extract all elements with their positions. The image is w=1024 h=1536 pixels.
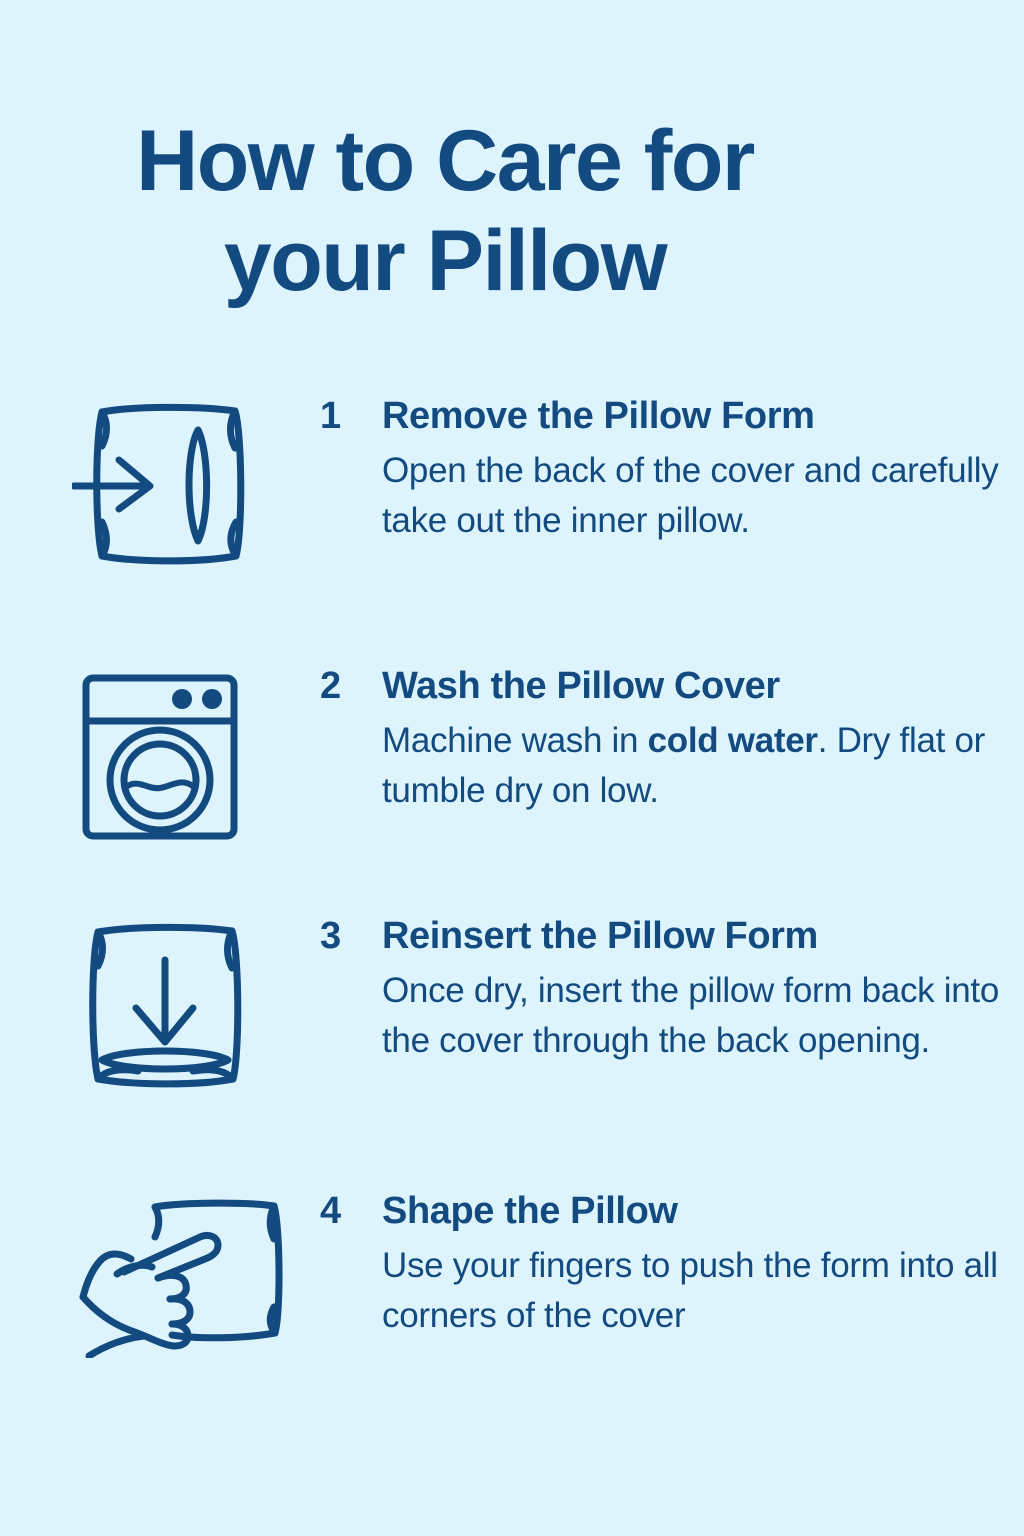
step-number: 3 [320, 912, 382, 960]
step-body-before: Once dry, insert the pillow form back in… [382, 971, 999, 1060]
step-number: 2 [320, 662, 382, 710]
page-title: How to Care for your Pillow [0, 118, 890, 304]
step-body: Use your fingers to push the form into a… [382, 1241, 1024, 1341]
step-item: 4 Shape the Pillow Use your fingers to p… [0, 1187, 1024, 1427]
step-item: 1 Remove the Pillow Form Open the back o… [0, 392, 1024, 662]
step-body-before: Use your fingers to push the form into a… [382, 1246, 998, 1335]
step-heading: Remove the Pillow Form [382, 392, 1024, 440]
washing-machine-icon [72, 668, 247, 848]
step-body-emphasis: cold water [648, 721, 818, 760]
steps-list: 1 Remove the Pillow Form Open the back o… [0, 392, 1024, 1427]
step-item: 3 Reinsert the Pillow Form Once dry, ins… [0, 912, 1024, 1187]
step-heading: Wash the Pillow Cover [382, 662, 1024, 710]
page-title-line-1: How to Care for [0, 118, 890, 204]
step-body: Machine wash in cold water. Dry flat or … [382, 716, 1024, 816]
step-4-icon-cell [72, 1187, 320, 1358]
step-body-before: Machine wash in [382, 721, 648, 760]
step-1-icon-cell [72, 392, 320, 573]
step-2-text-cell: 2 Wash the Pillow Cover Machine wash in … [320, 662, 1024, 816]
pillow-with-down-arrow-icon [72, 918, 262, 1096]
pillow-with-insert-arrow-icon [72, 398, 262, 573]
step-3-text-cell: 3 Reinsert the Pillow Form Once dry, ins… [320, 912, 1024, 1066]
step-3-icon-cell [72, 912, 320, 1096]
page-title-line-2: your Pillow [0, 218, 890, 304]
step-heading: Reinsert the Pillow Form [382, 912, 1024, 960]
step-2-icon-cell [72, 662, 320, 848]
step-4-text-cell: 4 Shape the Pillow Use your fingers to p… [320, 1187, 1024, 1341]
step-number: 4 [320, 1187, 382, 1235]
pointing-hand-on-pillow-icon [72, 1193, 287, 1358]
step-body: Once dry, insert the pillow form back in… [382, 966, 1024, 1066]
step-1-text-cell: 1 Remove the Pillow Form Open the back o… [320, 392, 1024, 546]
step-body: Open the back of the cover and carefully… [382, 446, 1024, 546]
step-number: 1 [320, 392, 382, 440]
step-heading: Shape the Pillow [382, 1187, 1024, 1235]
step-body-before: Open the back of the cover and carefully… [382, 451, 998, 540]
pillow-care-infographic: How to Care for your Pillow 1 [0, 0, 1024, 1536]
step-item: 2 Wash the Pillow Cover Machine wash in … [0, 662, 1024, 912]
